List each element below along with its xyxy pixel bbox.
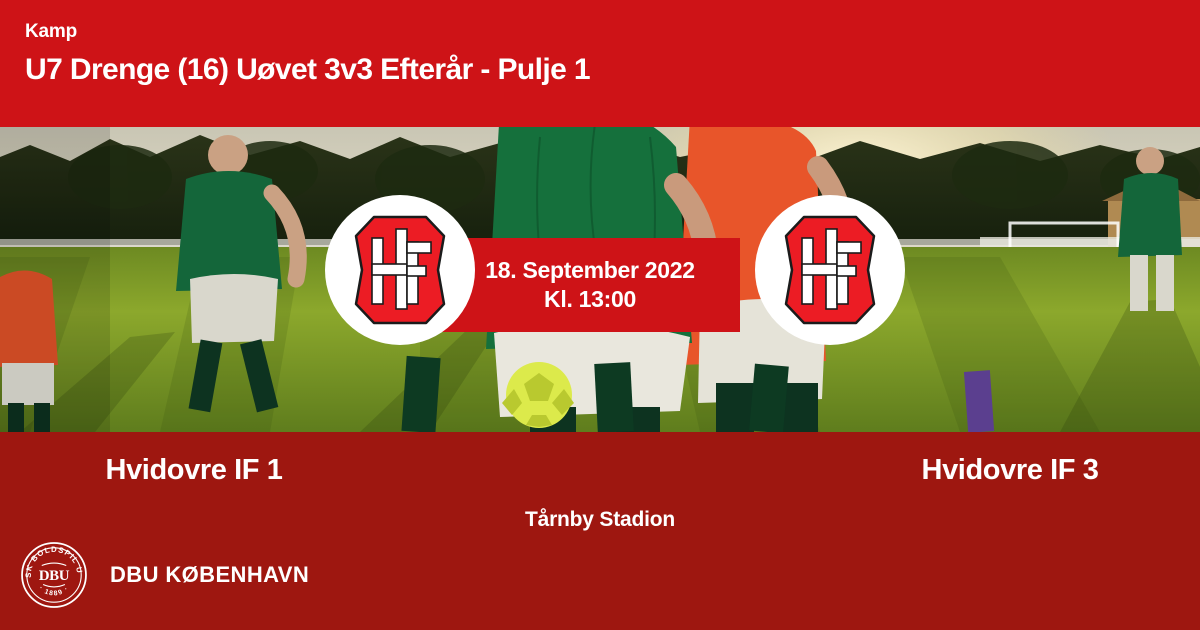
hvidovre-if-crest-icon — [352, 214, 448, 326]
hvidovre-if-crest-icon — [782, 214, 878, 326]
kamp-label: Kamp — [25, 22, 1200, 41]
organisation-name: DBU KØBENHAVN — [110, 562, 309, 588]
dbu-seal-icon: DANSK BOLDSPIL UNION · 1889 · DBU — [20, 541, 88, 609]
poster-header: Kamp U7 Drenge (16) Uøvet 3v3 Efterår - … — [0, 0, 1200, 127]
fixture-time: Kl. 13:00 — [544, 285, 636, 314]
fixture-datetime-banner: 18. September 2022 Kl. 13:00 — [440, 238, 740, 332]
fixture-date: 18. September 2022 — [485, 256, 694, 285]
venue-name: Tårnby Stadion — [0, 508, 1200, 532]
away-team-name: Hvidovre IF 3 — [600, 454, 1200, 487]
home-team-name: Hvidovre IF 1 — [0, 454, 600, 487]
team-names-row: Hvidovre IF 1 Hvidovre IF 3 — [0, 454, 1200, 487]
away-team-crest — [755, 195, 905, 345]
svg-text:DBU: DBU — [39, 568, 70, 584]
home-team-crest — [325, 195, 475, 345]
match-title: U7 Drenge (16) Uøvet 3v3 Efterår - Pulje… — [25, 53, 1200, 86]
footer-branding: DANSK BOLDSPIL UNION · 1889 · DBU DBU KØ… — [20, 541, 309, 609]
match-poster: Kamp U7 Drenge (16) Uøvet 3v3 Efterår - … — [0, 0, 1200, 630]
